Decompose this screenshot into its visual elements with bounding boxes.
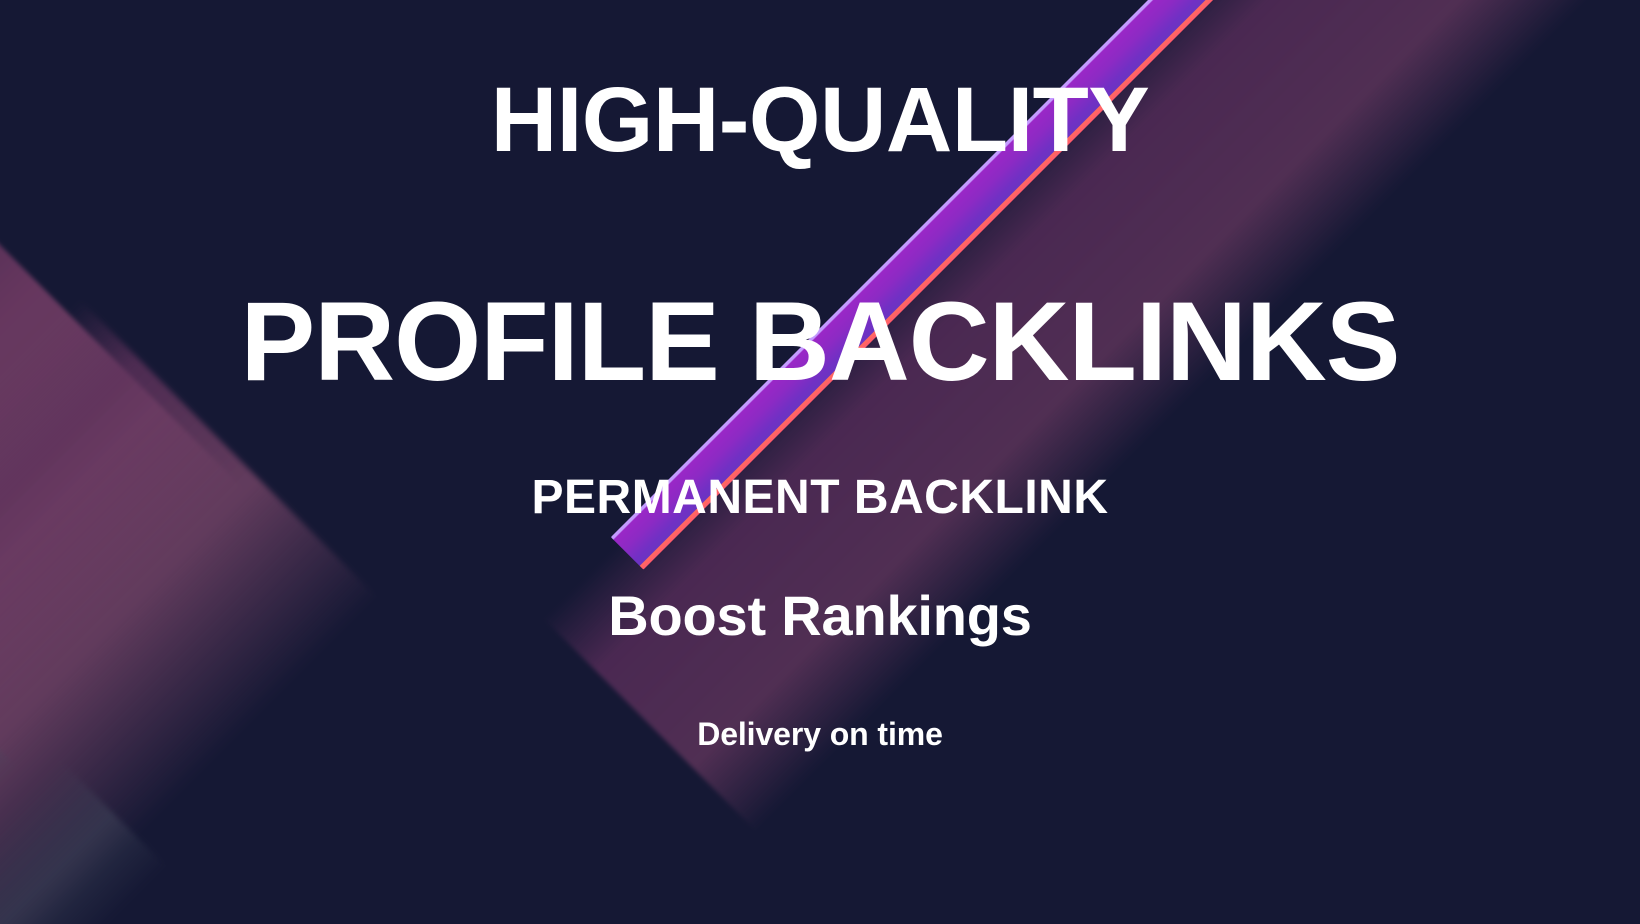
eyebrow-text: HIGH-QUALITY (491, 74, 1149, 166)
banner-canvas: HIGH-QUALITY PROFILE BACKLINKS PERMANENT… (0, 0, 1640, 924)
tagline-text: PERMANENT BACKLINK (532, 474, 1109, 522)
headline-text: PROFILE BACKLINKS (241, 286, 1400, 398)
delivery-promise-text: Delivery on time (697, 718, 943, 750)
banner-text-stack: HIGH-QUALITY PROFILE BACKLINKS PERMANENT… (0, 0, 1640, 924)
benefit-text: Boost Rankings (608, 588, 1031, 644)
